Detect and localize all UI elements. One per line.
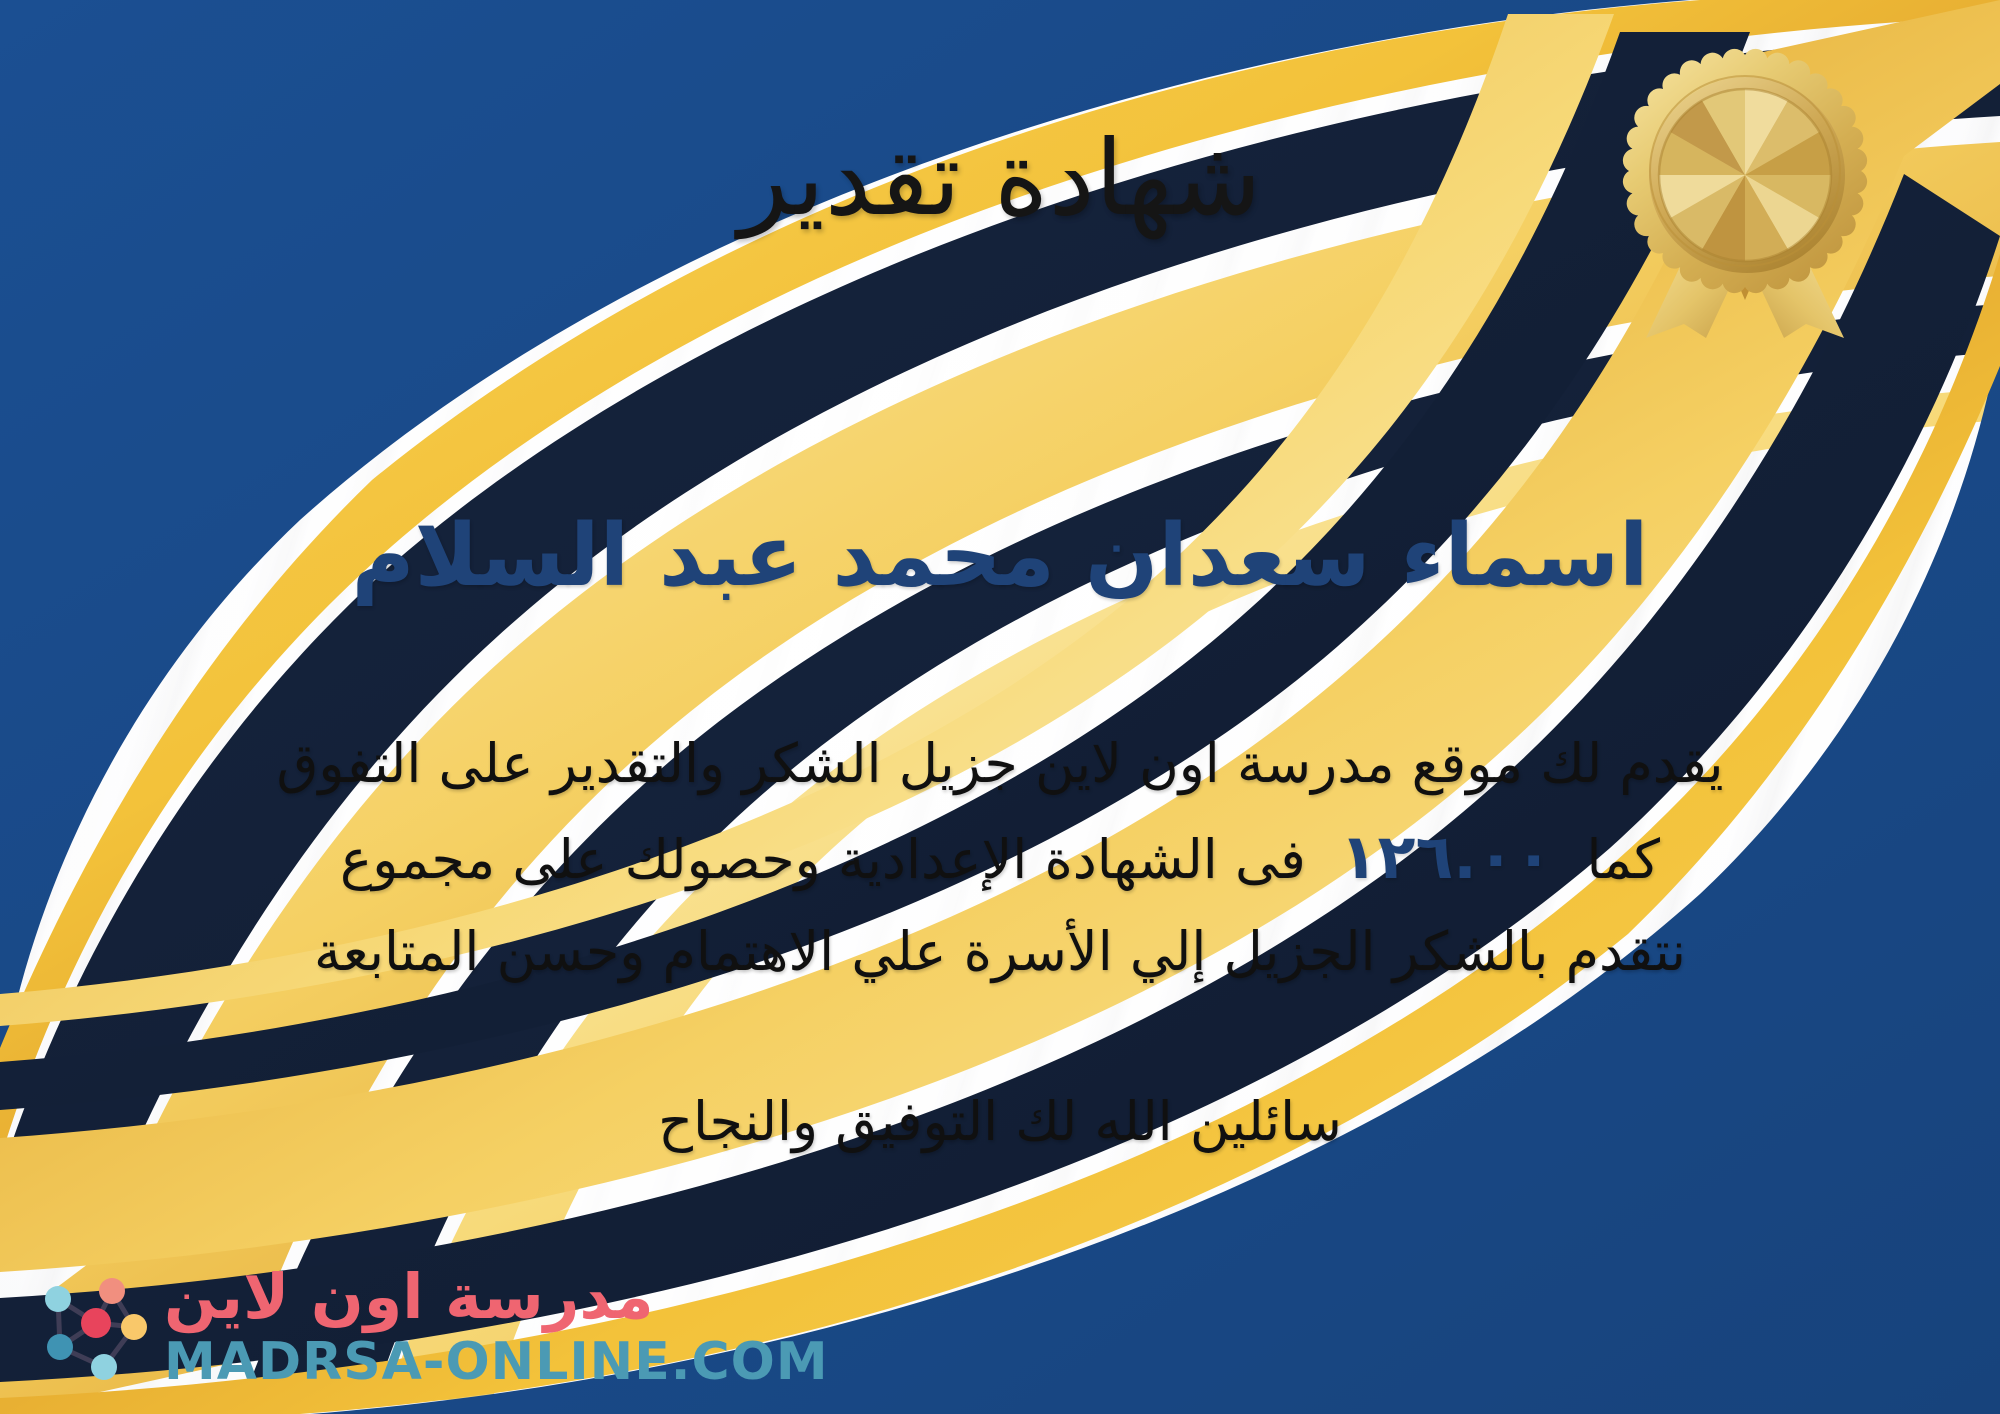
site-logo[interactable]: مدرسة اون لاين MADRSA-ONLINE.COM: [34, 1266, 829, 1388]
gold-award-medal-icon: [1610, 38, 1880, 338]
logo-arabic-name: مدرسة اون لاين: [164, 1266, 654, 1328]
recipient-name: اسماء سعدان محمد عبد السلام: [0, 505, 2000, 608]
gold-award-medal: [1610, 38, 1880, 338]
logo-text-block: مدرسة اون لاين MADRSA-ONLINE.COM: [164, 1266, 829, 1388]
body-line-2-suffix: كما: [1587, 828, 1660, 891]
body-line-2-prefix: فى الشهادة الإعدادية وحصولك على مجموع: [340, 828, 1306, 891]
certificate-canvas: شهادة تقدير اسماء سعدان محمد عبد السلام …: [0, 0, 2000, 1414]
network-nodes-icon: [34, 1267, 154, 1387]
body-line-3: نتقدم بالشكر الجزيل إلي الأسرة علي الاهت…: [52, 908, 1948, 995]
total-score-value: ١٢٦.٠٠: [1306, 807, 1587, 907]
body-line-2: كما١٢٦.٠٠فى الشهادة الإعدادية وحصولك على…: [52, 807, 1948, 907]
closing-wish: سائلين الله لك التوفيق والنجاح: [0, 1090, 2000, 1153]
logo-website-url: MADRSA-ONLINE.COM: [164, 1336, 829, 1388]
body-line-1: يقدم لك موقع مدرسة اون لاين جزيل الشكر و…: [52, 720, 1948, 807]
certificate-body: يقدم لك موقع مدرسة اون لاين جزيل الشكر و…: [52, 720, 1948, 995]
